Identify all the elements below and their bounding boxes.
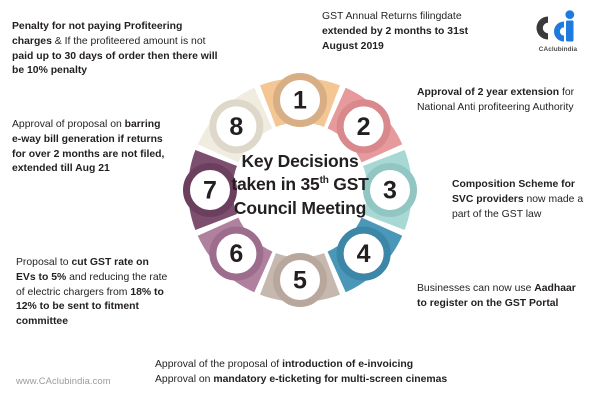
caption-item-5: Approval of the proposal of introduction…: [155, 358, 555, 388]
logo-blue-i-dot: [565, 10, 574, 19]
caclubindia-logo: CAclubindia: [526, 8, 590, 58]
wheel-badge-1[interactable]: 1: [277, 77, 324, 124]
caption-item-1: GST Annual Returns filingdate extended b…: [322, 10, 482, 54]
logo-wordmark: CAclubindia: [526, 46, 590, 53]
wheel-badge-2[interactable]: 2: [340, 103, 387, 150]
caption-run-1: date: [441, 11, 461, 22]
caclubindia-logo-icon: [526, 8, 590, 48]
caption-run-0: Approval of proposal on: [12, 119, 125, 130]
caption-item-4: Businesses can now use Aadhaar to regist…: [417, 282, 577, 312]
caption-item-8: Penalty for not paying Profiteering char…: [12, 20, 220, 79]
badge-number-8: 8: [229, 113, 243, 141]
caption-run-1: & If the profiteered amount is not: [52, 36, 206, 47]
wheel-badge-8[interactable]: 8: [213, 103, 260, 150]
logo-dark-c-shape: [537, 17, 549, 40]
caption-run-0: GST Annual Returns filing: [322, 11, 441, 22]
center-title-line3: Council Meeting: [234, 198, 366, 218]
logo-blue-c-shape: [554, 22, 564, 42]
caption-item-2: Approval of 2 year extension for Nationa…: [417, 86, 595, 116]
caption-run-1: introduction of e-invoicing: [282, 359, 413, 370]
center-title-line1: Key Decisions: [241, 151, 358, 171]
infographic-canvas: 12345678 Key Decisions taken in 35th GST…: [0, 0, 600, 400]
badge-number-1: 1: [293, 87, 307, 115]
wheel-badge-6[interactable]: 6: [213, 230, 260, 277]
badge-number-6: 6: [229, 240, 243, 268]
badge-number-4: 4: [357, 240, 371, 268]
caption-item-7: Approval of proposal on barring e-way bi…: [12, 118, 172, 177]
badge-number-2: 2: [357, 113, 371, 141]
caption-run-3: Approval on: [155, 374, 213, 385]
center-title-line2-post: GST: [329, 174, 369, 194]
logo-blue-i-stem: [566, 21, 574, 42]
wheel-badge-4[interactable]: 4: [340, 230, 387, 277]
site-watermark: www.CAclubindia.com: [16, 375, 111, 386]
badge-number-5: 5: [293, 267, 307, 295]
caption-run-0: Approval of the proposal of: [155, 359, 282, 370]
center-title-ordinal: th: [320, 175, 329, 186]
caption-run-4: mandatory e-ticketing for multi-screen c…: [213, 374, 447, 385]
caption-run-2: extended by 2 months: [322, 26, 432, 37]
wheel-badge-5[interactable]: 5: [277, 257, 324, 304]
page-title: Key Decisions taken in 35th GST Council …: [212, 150, 388, 220]
caption-run-0: Approval of 2 year extension: [417, 87, 559, 98]
caption-run-2: paid up to 30 days of order then there w…: [12, 51, 218, 77]
caption-run-0: Proposal to: [16, 257, 71, 268]
caption-run-0: Businesses can now use: [417, 283, 534, 294]
caption-item-3: Composition Scheme for SVC providers now…: [452, 178, 598, 222]
caption-item-6: Proposal to cut GST rate on EVs to 5% an…: [16, 256, 168, 330]
center-title-line2-pre: taken in 35: [231, 174, 319, 194]
